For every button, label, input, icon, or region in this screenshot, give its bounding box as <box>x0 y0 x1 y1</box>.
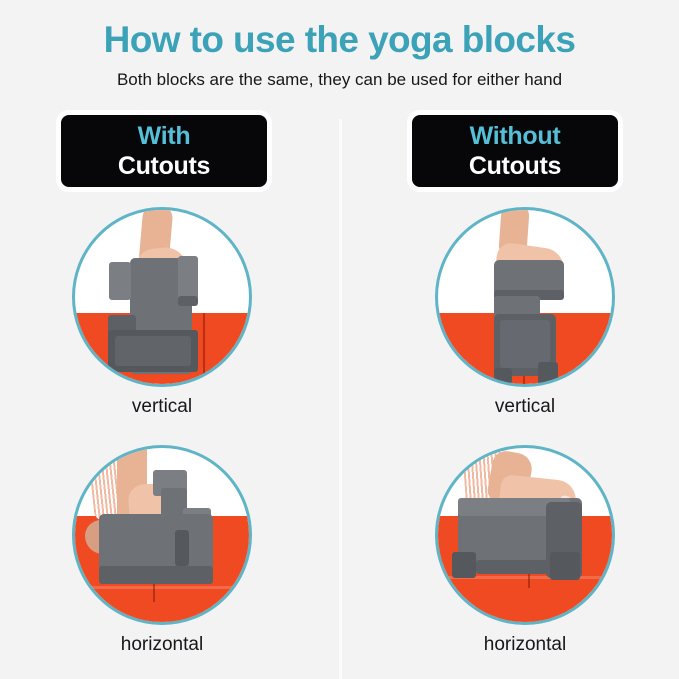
scene <box>438 210 612 384</box>
badge-bottom-label: Cutouts <box>469 154 561 179</box>
photo-horizontal-without-cutouts <box>435 445 615 625</box>
photo-horizontal-with-cutouts <box>72 445 252 625</box>
badge-top-label: Without <box>470 124 561 149</box>
photo-vertical-with-cutouts <box>72 207 252 387</box>
infographic-page: How to use the yoga blocks Both blocks a… <box>0 0 679 679</box>
scene <box>75 210 249 384</box>
caption-horizontal-right: horizontal <box>435 634 615 656</box>
block-notch-shadow <box>178 296 198 306</box>
caption-vertical-right: vertical <box>435 396 615 418</box>
page-title: How to use the yoga blocks <box>0 17 679 63</box>
caption-horizontal-left: horizontal <box>72 634 252 656</box>
block-underside <box>476 560 548 574</box>
block-base <box>99 566 213 584</box>
block-body-highlight <box>500 320 550 368</box>
badge-without-cutouts: Without Cutouts <box>407 110 623 192</box>
block-foot-left <box>494 368 512 384</box>
scene <box>75 448 249 622</box>
block-cutout-shadow <box>175 530 189 566</box>
badge-with-cutouts: With Cutouts <box>56 110 272 192</box>
photo-vertical-without-cutouts <box>435 207 615 387</box>
badge-top-label: With <box>138 124 191 149</box>
mat-seam <box>203 313 205 387</box>
block-foot-left <box>452 552 476 578</box>
block-foot-right <box>550 552 580 580</box>
page-subtitle: Both blocks are the same, they can be us… <box>0 68 679 92</box>
block-flange <box>178 256 198 300</box>
block-base-highlight <box>115 336 191 366</box>
block-tab <box>109 262 131 300</box>
block-foot-right <box>538 362 558 384</box>
mat-fold <box>72 586 252 589</box>
caption-vertical-left: vertical <box>72 396 252 418</box>
scene <box>438 448 612 622</box>
column-divider <box>339 119 342 679</box>
badge-bottom-label: Cutouts <box>118 154 210 179</box>
